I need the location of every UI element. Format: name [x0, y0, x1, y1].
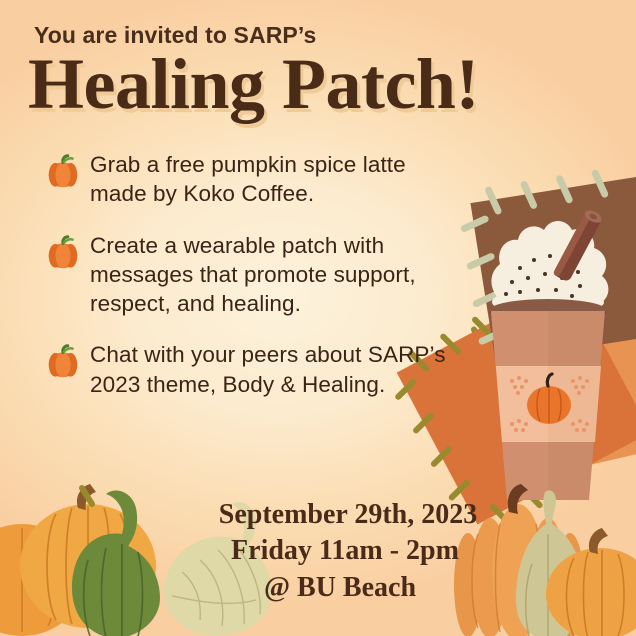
- list-item: Chat with your peers about SARP’s 2023 t…: [44, 340, 464, 399]
- poster-canvas: You are invited to SARP’s Healing Patch!…: [0, 0, 636, 636]
- list-item-text: Chat with your peers about SARP’s 2023 t…: [90, 340, 464, 399]
- list-item-text: Create a wearable patch with messages th…: [90, 231, 464, 319]
- list-item: Grab a free pumpkin spice latte made by …: [44, 150, 464, 209]
- event-time: Friday 11am - 2pm: [0, 533, 636, 569]
- bullet-list: Grab a free pumpkin spice latte made by …: [44, 150, 464, 421]
- event-location: @ BU Beach: [0, 569, 636, 607]
- list-item-text: Grab a free pumpkin spice latte made by …: [90, 150, 464, 209]
- list-item: Create a wearable patch with messages th…: [44, 231, 464, 319]
- pumpkin-icon: [44, 233, 82, 271]
- page-title: Healing Patch!: [28, 48, 479, 120]
- event-details: September 29th, 2023 Friday 11am - 2pm @…: [0, 498, 636, 607]
- event-date: September 29th, 2023: [0, 498, 636, 533]
- pumpkin-icon: [44, 152, 82, 190]
- pumpkin-icon: [44, 342, 82, 380]
